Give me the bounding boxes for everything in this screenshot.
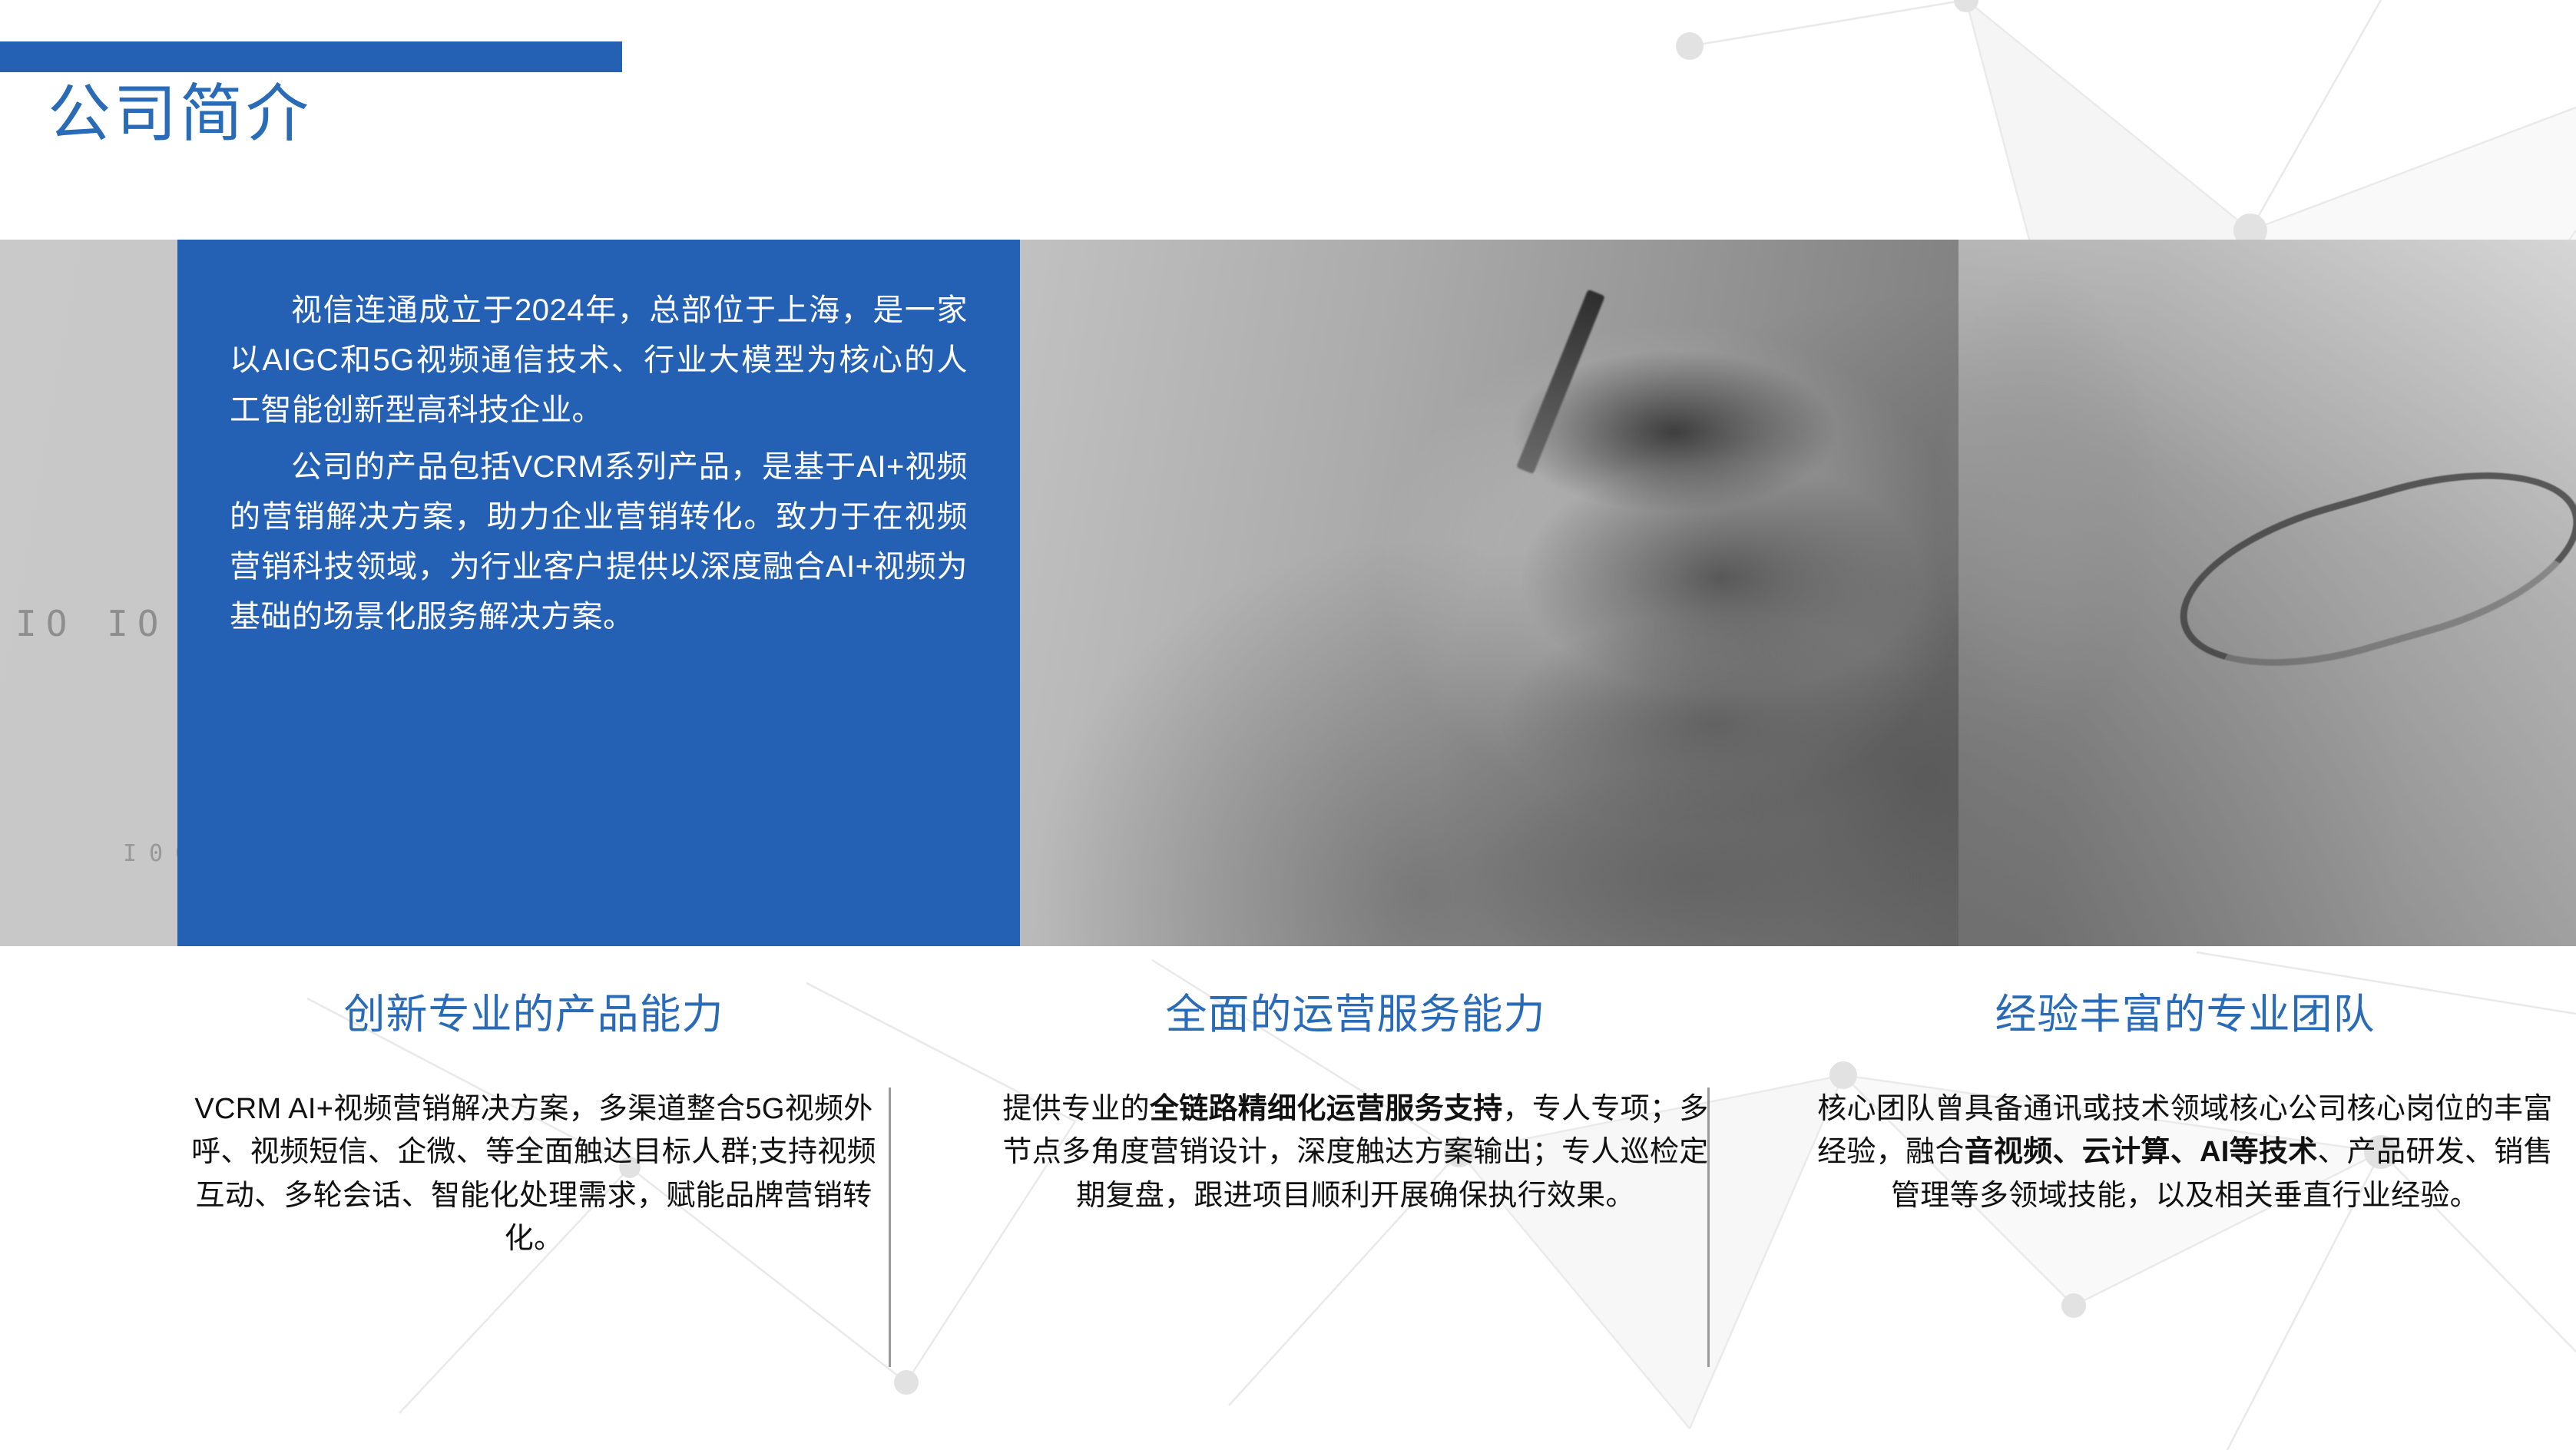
feature-body-emphasis: 音视频、云计算、AI等技术 — [1965, 1136, 2318, 1168]
feature-body-emphasis: 全链路精细化运营服务支持 — [1150, 1093, 1503, 1125]
feature-heading: 创新专业的产品能力 — [157, 991, 910, 1038]
title-accent-bar — [0, 41, 622, 72]
page-title: 公司简介 — [48, 83, 312, 146]
feature-body: VCRM AI+视频营销解决方案，多渠道整合5G视频外呼、视频短信、企微、等全面… — [157, 1087, 910, 1260]
feature-body-text: 提供专业的 — [1002, 1093, 1150, 1125]
intro-paragraph-1: 视信连通成立于2024年，总部位于上海，是一家以AIGC和5G视频通信技术、行业… — [230, 286, 968, 435]
intro-paragraph-2: 公司的产品包括VCRM系列产品，是基于AI+视频的营销解决方案，助力企业营销转化… — [230, 442, 968, 641]
feature-body-text: VCRM AI+视频营销解决方案，多渠道整合5G视频外呼、视频短信、企微、等全面… — [191, 1093, 876, 1255]
feature-column-team: 经验丰富的专业团队 核心团队曾具备通讯或技术领域核心公司核心岗位的丰富经验，融合… — [1801, 991, 2569, 1217]
feature-body: 核心团队曾具备通讯或技术领域核心公司核心岗位的丰富经验，融合音视频、云计算、AI… — [1801, 1087, 2569, 1217]
slide-canvas: 公司简介 IO IO IO I00 II 0 0I 00 0000 I 00 I… — [0, 0, 2576, 1450]
company-intro-box: 视信连通成立于2024年，总部位于上海，是一家以AIGC和5G视频通信技术、行业… — [177, 240, 1020, 946]
feature-heading: 经验丰富的专业团队 — [1801, 991, 2569, 1038]
feature-body: 提供专业的全链路精细化运营服务支持，专人专项；多节点多角度营销设计，深度触达方案… — [979, 1087, 1732, 1217]
feature-columns: 创新专业的产品能力 VCRM AI+视频营销解决方案，多渠道整合5G视频外呼、视… — [0, 991, 2576, 1421]
feature-column-product: 创新专业的产品能力 VCRM AI+视频营销解决方案，多渠道整合5G视频外呼、视… — [157, 991, 910, 1260]
feature-heading: 全面的运营服务能力 — [979, 991, 1732, 1038]
feature-column-operations: 全面的运营服务能力 提供专业的全链路精细化运营服务支持，专人专项；多节点多角度营… — [979, 991, 1732, 1217]
